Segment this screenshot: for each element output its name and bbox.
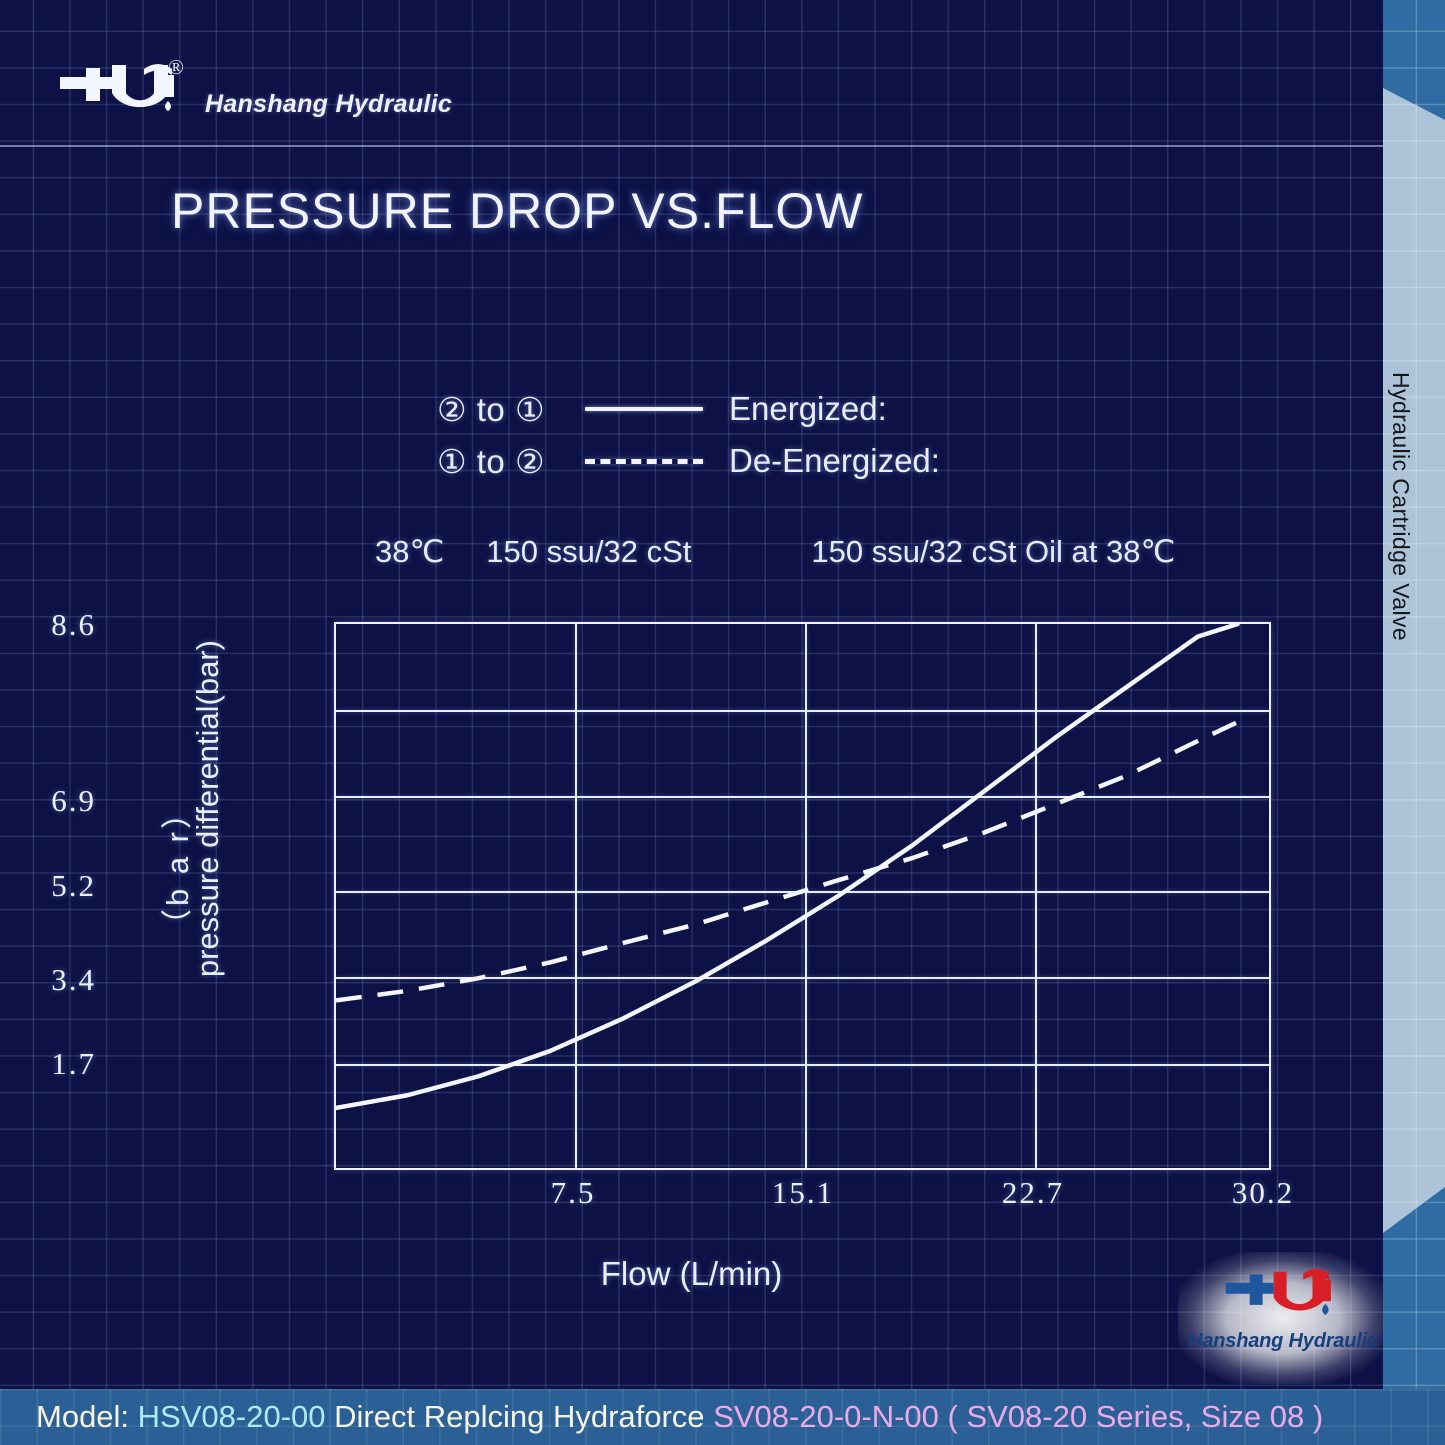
curve-de-energized: [336, 722, 1238, 1000]
x-tick-label: 15.1: [733, 1175, 873, 1211]
watermark-logo: ® Hanshang Hydraulic: [1178, 1252, 1388, 1384]
x-axis-title: Flow (L/min): [0, 1255, 1383, 1293]
hanshang-logo-icon: [1222, 1260, 1342, 1322]
footer-model-text: Model: HSV08-20-00 Direct Replcing Hydra…: [0, 1399, 1323, 1435]
sidebar-grid-overlay: [1383, 0, 1445, 1445]
y-tick-label: 1.7: [0, 1046, 96, 1082]
sidebar-label: Hydraulic Cartridge Valve: [1387, 372, 1414, 641]
y-tick-label: 5.2: [0, 868, 96, 904]
blueprint-page: ® Hanshang Hydraulic PRESSURE DROP VS.FL…: [0, 0, 1445, 1445]
footer-bar: Model: HSV08-20-00 Direct Replcing Hydra…: [0, 1389, 1445, 1445]
y-axis-unit-label: （b a r）: [152, 795, 197, 940]
registered-trademark-icon: ®: [1333, 1258, 1344, 1275]
x-tick-label: 30.2: [1193, 1175, 1333, 1211]
curve-energized: [336, 624, 1238, 1108]
footer-model-code: HSV08-20-00: [138, 1399, 326, 1435]
x-tick-label: 22.7: [963, 1175, 1103, 1211]
chart-curves: [336, 624, 1269, 1168]
chart-plot-area: pressure differential(bar) （b a r） 8.6 6…: [0, 0, 1383, 1445]
footer-model-prefix: Model:: [36, 1399, 129, 1435]
x-tick-label: 7.5: [503, 1175, 643, 1211]
footer-model-desc: Direct Replcing Hydraforce: [334, 1399, 704, 1435]
y-tick-label: 3.4: [0, 962, 96, 998]
watermark-brand-text: Hanshang Hydraulic: [1178, 1330, 1388, 1353]
y-tick-label: 8.6: [0, 607, 96, 643]
plot-frame: [334, 622, 1271, 1170]
footer-reference-code: SV08-20-0-N-00 ( SV08-20 Series, Size 08…: [713, 1399, 1323, 1435]
y-tick-label: 6.9: [0, 783, 96, 819]
right-sidebar: Hydraulic Cartridge Valve: [1383, 0, 1445, 1445]
